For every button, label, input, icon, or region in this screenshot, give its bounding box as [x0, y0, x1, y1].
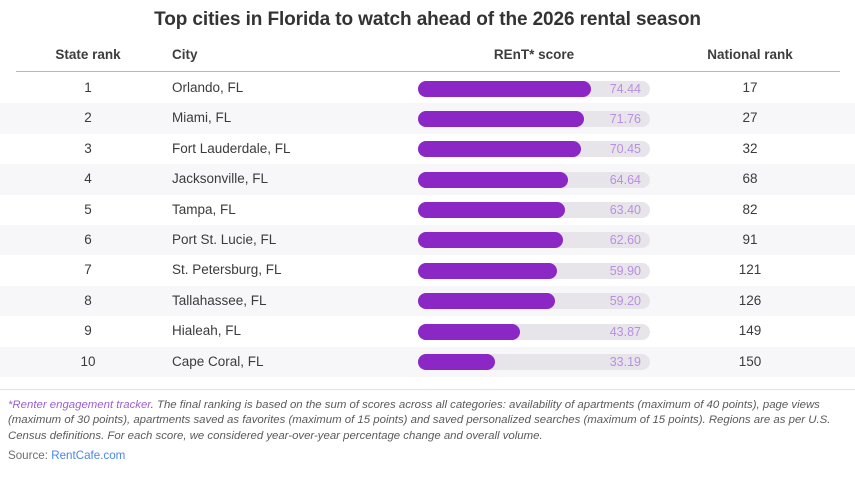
score-bar: 59.90 — [418, 263, 650, 279]
cell-state-rank: 1 — [0, 73, 176, 103]
cell-city: Orlando, FL — [172, 73, 243, 103]
score-bar-fill — [418, 263, 557, 279]
cell-national-rank: 149 — [660, 316, 840, 346]
cell-national-rank: 82 — [660, 195, 840, 225]
score-value-label: 74.44 — [610, 81, 641, 97]
score-bar: 62.60 — [418, 232, 650, 248]
table-row: 8Tallahassee, FL59.20126 — [0, 286, 855, 316]
cell-state-rank: 5 — [0, 195, 176, 225]
score-bar: 33.19 — [418, 354, 650, 370]
score-value-label: 63.40 — [610, 202, 641, 218]
cell-national-rank: 91 — [660, 225, 840, 255]
rankings-table: State rank City REnT* score National ran… — [0, 47, 855, 71]
score-bar-fill — [418, 232, 563, 248]
score-value-label: 70.45 — [610, 141, 641, 157]
score-value-label: 33.19 — [610, 354, 641, 370]
cell-state-rank: 8 — [0, 286, 176, 316]
score-bar: 74.44 — [418, 81, 650, 97]
cell-national-rank: 126 — [660, 286, 840, 316]
table-row: 10Cape Coral, FL33.19150 — [0, 347, 855, 377]
source-link[interactable]: RentCafe.com — [51, 449, 125, 462]
score-value-label: 64.64 — [610, 172, 641, 188]
cell-state-rank: 4 — [0, 164, 176, 194]
table-body: 1Orlando, FL74.44172Miami, FL71.76273For… — [0, 73, 855, 377]
cell-city: Tampa, FL — [172, 195, 236, 225]
header-divider — [16, 71, 840, 72]
score-bar: 64.64 — [418, 172, 650, 188]
score-value-label: 59.90 — [610, 263, 641, 279]
cell-state-rank: 9 — [0, 316, 176, 346]
score-value-label: 43.87 — [610, 324, 641, 340]
table-row: 5Tampa, FL63.4082 — [0, 195, 855, 225]
cell-city: Tallahassee, FL — [172, 286, 267, 316]
column-header-rent-score: REnT* score — [418, 47, 650, 62]
score-bar: 71.76 — [418, 111, 650, 127]
column-header-city: City — [172, 47, 198, 62]
cell-city: Hialeah, FL — [172, 316, 241, 346]
cell-city: Fort Lauderdale, FL — [172, 134, 291, 164]
cell-national-rank: 32 — [660, 134, 840, 164]
score-bar: 70.45 — [418, 141, 650, 157]
score-bar-fill — [418, 111, 584, 127]
cell-state-rank: 3 — [0, 134, 176, 164]
cell-state-rank: 6 — [0, 225, 176, 255]
cell-national-rank: 150 — [660, 347, 840, 377]
score-value-label: 59.20 — [610, 293, 641, 309]
score-value-label: 62.60 — [610, 232, 641, 248]
source-label: Source: — [8, 449, 48, 462]
table-row: 2Miami, FL71.7627 — [0, 103, 855, 133]
cell-city: Cape Coral, FL — [172, 347, 264, 377]
table-header-row: State rank City REnT* score National ran… — [0, 47, 855, 71]
score-bar-fill — [418, 324, 520, 340]
footnote-divider — [0, 389, 855, 390]
score-bar: 63.40 — [418, 202, 650, 218]
cell-national-rank: 121 — [660, 255, 840, 285]
table-row: 9Hialeah, FL43.87149 — [0, 316, 855, 346]
table-row: 4Jacksonville, FL64.6468 — [0, 164, 855, 194]
table-row: 6Port St. Lucie, FL62.6091 — [0, 225, 855, 255]
table-row: 7St. Petersburg, FL59.90121 — [0, 255, 855, 285]
cell-state-rank: 2 — [0, 103, 176, 133]
score-bar-fill — [418, 81, 591, 97]
cell-state-rank: 10 — [0, 347, 176, 377]
column-header-national-rank: National rank — [660, 47, 840, 62]
footnote-term: *Renter engagement tracker — [8, 399, 151, 411]
footnote: *Renter engagement tracker. The final ra… — [8, 398, 846, 444]
table-row: 3Fort Lauderdale, FL70.4532 — [0, 134, 855, 164]
page-title: Top cities in Florida to watch ahead of … — [0, 9, 855, 31]
score-bar-fill — [418, 293, 555, 309]
score-bar: 43.87 — [418, 324, 650, 340]
cell-national-rank: 27 — [660, 103, 840, 133]
cell-city: Jacksonville, FL — [172, 164, 268, 194]
cell-city: Miami, FL — [172, 103, 231, 133]
cell-city: St. Petersburg, FL — [172, 255, 282, 285]
score-bar-fill — [418, 172, 568, 188]
score-value-label: 71.76 — [610, 111, 641, 127]
source-line: Source: RentCafe.com — [8, 449, 125, 462]
score-bar: 59.20 — [418, 293, 650, 309]
cell-city: Port St. Lucie, FL — [172, 225, 276, 255]
table-row: 1Orlando, FL74.4417 — [0, 73, 855, 103]
cell-national-rank: 17 — [660, 73, 840, 103]
cell-state-rank: 7 — [0, 255, 176, 285]
score-bar-fill — [418, 141, 581, 157]
score-bar-fill — [418, 202, 565, 218]
cell-national-rank: 68 — [660, 164, 840, 194]
column-header-state-rank: State rank — [0, 47, 176, 62]
score-bar-fill — [418, 354, 495, 370]
